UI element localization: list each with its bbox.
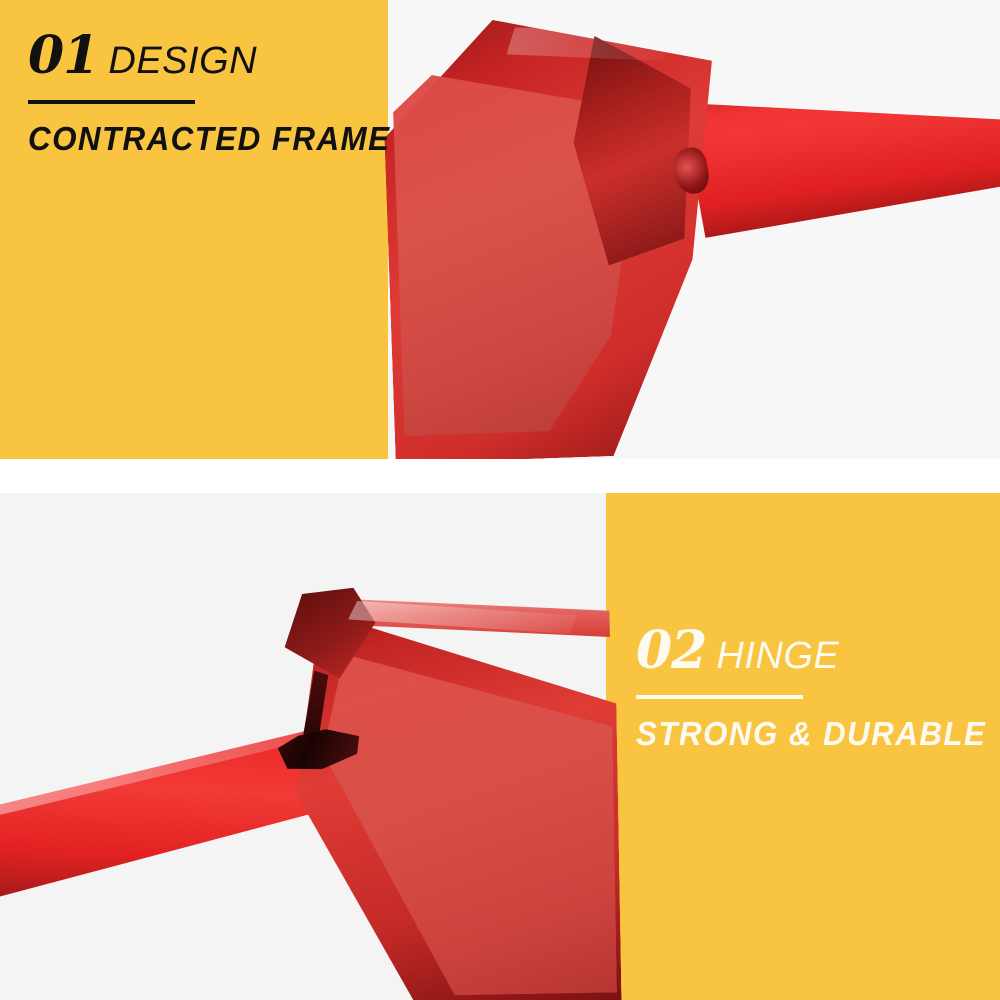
hinge-eyebrow: 02HINGE xyxy=(636,625,966,677)
design-caption: 01DESIGN CONTRACTED FRAME xyxy=(28,30,368,158)
design-headline: CONTRACTED FRAME xyxy=(28,120,351,158)
product-feature-banner: 01DESIGN CONTRACTED FRAME 02HINGE xyxy=(0,0,1000,1000)
design-step-number: 01 xyxy=(28,25,98,86)
hinge-keyword: HINGE xyxy=(716,635,839,677)
hinge-caption: 02HINGE STRONG & DURABLE xyxy=(636,625,966,753)
design-eyebrow: 01DESIGN xyxy=(28,30,368,82)
hinge-divider xyxy=(636,695,803,699)
panel-design: 01DESIGN CONTRACTED FRAME xyxy=(0,0,1000,459)
design-divider xyxy=(28,100,195,104)
design-keyword: DESIGN xyxy=(108,40,257,82)
sunglasses-hinge-photo xyxy=(0,493,606,1000)
frame-highlight xyxy=(348,597,578,637)
sunglasses-front-photo xyxy=(388,0,1000,459)
panel-hinge: 02HINGE STRONG & DURABLE xyxy=(0,493,1000,1000)
hinge-headline: STRONG & DURABLE xyxy=(636,715,950,753)
hinge-step-number: 02 xyxy=(636,620,706,681)
